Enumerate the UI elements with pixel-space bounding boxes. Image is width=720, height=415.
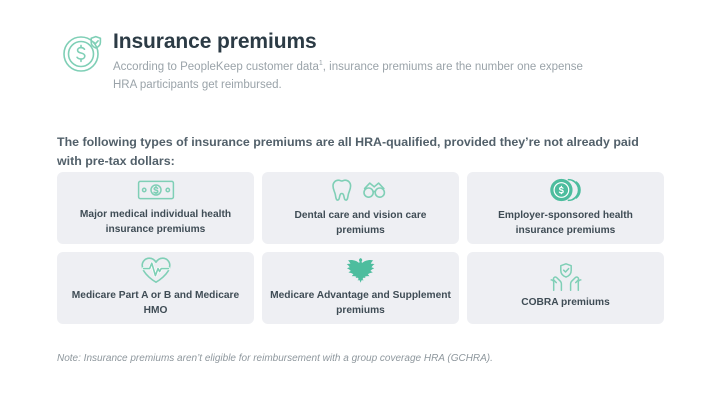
- card-medicare-advantage[interactable]: Medicare Advantage and Supplement premiu…: [262, 252, 459, 324]
- banknote-dollar-icon: [137, 177, 175, 203]
- card-label: Medicare Part A or B and Medicare HMO: [65, 289, 246, 317]
- page-title: Insurance premiums: [113, 30, 583, 54]
- hands-holding-shield-icon: [548, 263, 584, 291]
- card-label: Major medical individual health insuranc…: [65, 208, 246, 236]
- header: Insurance premiums According to PeopleKe…: [57, 24, 677, 95]
- card-cobra[interactable]: COBRA premiums: [467, 252, 664, 324]
- lead-paragraph: The following types of insurance premium…: [57, 133, 657, 171]
- infographic-page: Insurance premiums According to PeopleKe…: [0, 0, 720, 415]
- heart-pulse-icon: [139, 256, 173, 284]
- stacked-coins-dollar-icon: [549, 176, 583, 204]
- premium-type-card-grid: Major medical individual health insuranc…: [57, 172, 664, 324]
- card-medicare-part-a-b[interactable]: Medicare Part A or B and Medicare HMO: [57, 252, 254, 324]
- page-subtitle: According to PeopleKeep customer data1, …: [113, 59, 583, 95]
- card-label: Employer-sponsored health insurance prem…: [475, 209, 656, 237]
- footnote-note: Note: Insurance premiums aren’t eligible…: [57, 352, 493, 366]
- header-text-block: Insurance premiums According to PeopleKe…: [113, 24, 583, 95]
- card-label: COBRA premiums: [521, 296, 610, 310]
- subtitle-part-1: According to PeopleKeep customer data: [113, 61, 319, 73]
- card-major-medical[interactable]: Major medical individual health insuranc…: [57, 172, 254, 244]
- card-label: Medicare Advantage and Supplement premiu…: [270, 289, 451, 317]
- card-label: Dental care and vision care premiums: [270, 209, 451, 237]
- card-employer-sponsored[interactable]: Employer-sponsored health insurance prem…: [467, 172, 664, 244]
- card-dental-vision[interactable]: Dental care and vision care premiums: [262, 172, 459, 244]
- tooth-and-eyeglasses-icon: [330, 176, 392, 204]
- dollar-coin-shield-check-icon: [57, 26, 109, 78]
- eagle-icon: [344, 256, 378, 284]
